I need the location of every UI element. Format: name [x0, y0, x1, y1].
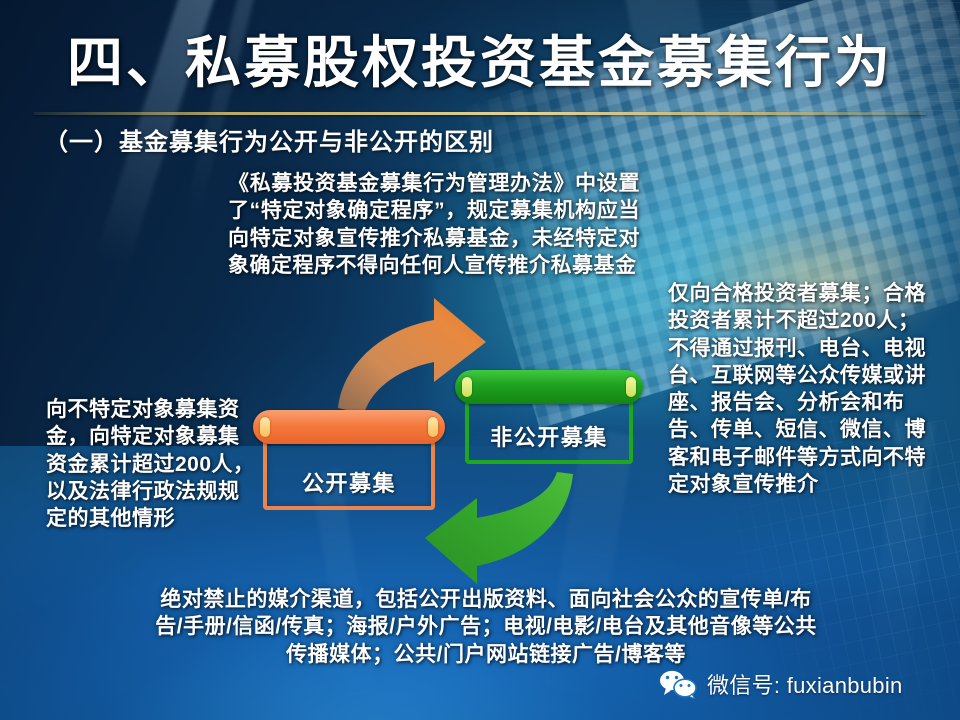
- title-divider: [34, 112, 926, 115]
- wechat-id-label: 微信号: fuxianbubin: [707, 668, 903, 700]
- text-block-public-rules: 向不特定对象募集资金，向特定对象募集资金累计超过200人，以及法律行政法规规定的…: [46, 396, 258, 532]
- box-roller-bar: [455, 370, 643, 404]
- private-offering-box[interactable]: 非公开募集: [455, 370, 643, 464]
- roller-cap-right: [626, 377, 636, 397]
- page-title: 四、私募股权投资基金募集行为: [0, 34, 960, 93]
- text-block-banned-media: 绝对禁止的媒介渠道，包括公开出版资料、面向社会公众的宣传单/布告/手册/信函/传…: [150, 586, 822, 668]
- page-subtitle: （一）基金募集行为公开与非公开的区别: [44, 122, 494, 157]
- public-offering-box[interactable]: 公开募集: [253, 410, 445, 510]
- text-block-regulation: 《私募投资基金募集行为管理办法》中设置了“特定对象确定程序”，规定募集机构应当向…: [228, 170, 640, 279]
- wechat-icon: [658, 669, 698, 699]
- roller-cap-right: [428, 417, 438, 437]
- wechat-watermark: 微信号: fuxianbubin: [658, 668, 903, 700]
- box-roller-bar: [253, 410, 445, 444]
- text-block-private-rules: 仅向合格投资者募集；合格投资者累计不超过200人；不得通过报刊、电台、电视台、互…: [668, 280, 930, 498]
- private-offering-label: 非公开募集: [455, 420, 643, 452]
- roller-cap-left: [462, 377, 472, 397]
- public-offering-label: 公开募集: [253, 466, 445, 498]
- slide-canvas: 四、私募股权投资基金募集行为 （一）基金募集行为公开与非公开的区别 《私募投资基…: [0, 0, 960, 720]
- roller-cap-left: [260, 417, 270, 437]
